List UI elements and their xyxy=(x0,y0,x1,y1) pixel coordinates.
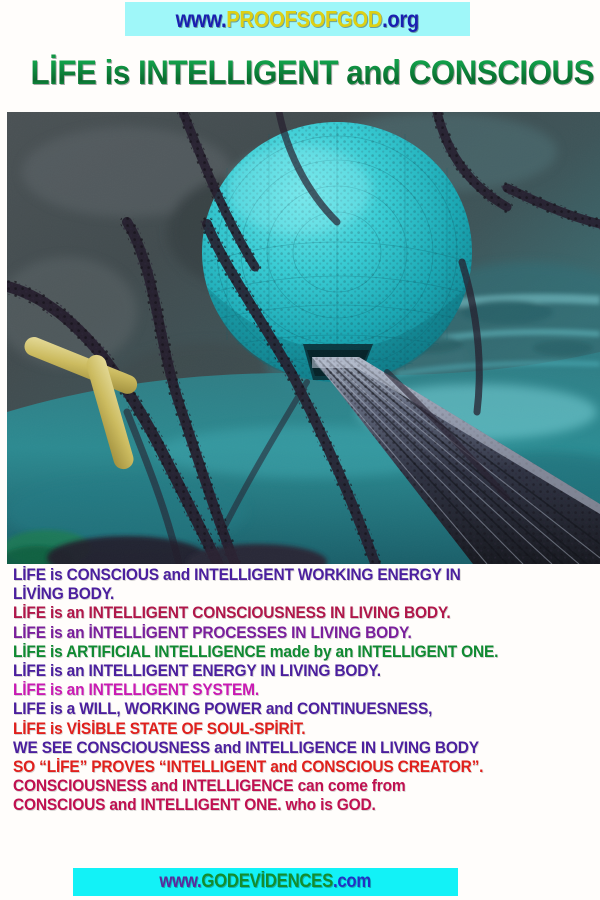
footer-url-banner[interactable]: www.GODEVİDENCES.com xyxy=(73,868,458,896)
url-prefix: www. xyxy=(176,6,227,32)
godevidences-url-text: www.GODEVİDENCES.com xyxy=(160,871,372,893)
statement-line: CONSCIOUS and INTELLIGENT ONE. who is GO… xyxy=(13,796,565,815)
page-title: LİFE is INTELLIGENT and CONSCIOUS ENERGY xyxy=(0,44,600,104)
statement-line: LİFE is CONSCIOUS and INTELLIGENT WORKIN… xyxy=(13,566,565,585)
statement-line: LİFE is an İNTELLİGENT PROCESSES IN LIVI… xyxy=(13,624,565,643)
footer-url-tld: .com xyxy=(333,871,371,892)
statement-line: CONSCIOUSNESS and INTELLIGENCE can come … xyxy=(13,777,565,796)
statement-line: LİFE is an INTELLIGENT ENERGY IN LIVING … xyxy=(13,662,565,681)
statement-line: LİFE is ARTIFICIAL INTELLIGENCE made by … xyxy=(13,643,565,662)
statement-line: LİFE is VİSİBLE STATE OF SOUL-SPİRİT. xyxy=(13,720,565,739)
footer-url-domain: GODEVİDENCES xyxy=(202,871,334,892)
url-tld: .org xyxy=(382,6,419,32)
cell-illustration xyxy=(7,112,600,564)
statements-block: LİFE is CONSCIOUS and INTELLIGENT WORKIN… xyxy=(13,566,600,816)
url-domain: PROOFSOFGOD xyxy=(227,6,383,32)
statement-line: LİFE is an INTELLIGENT SYSTEM. xyxy=(13,681,565,700)
proofsofgod-url-text: www.PROOFSOFGOD.org xyxy=(176,6,419,33)
statement-line: LIFE is a WILL, WORKING POWER and CONTIN… xyxy=(13,700,565,719)
page-title-text: LİFE is INTELLIGENT and CONSCIOUS ENERGY xyxy=(30,44,600,102)
footer-url-prefix: www. xyxy=(160,871,202,892)
cell-illustration-graphic xyxy=(7,112,600,564)
statement-line: SO “LİFE” PROVES “INTELLIGENT and CONSCI… xyxy=(13,758,565,777)
top-url-banner[interactable]: www.PROOFSOFGOD.org xyxy=(125,2,470,36)
statement-line: WE SEE CONSCIOUSNESS and INTELLIGENCE IN… xyxy=(13,739,565,758)
statement-line: LİFE is an INTELLIGENT CONSCIOUSNESS IN … xyxy=(13,604,565,623)
statement-line: LİVİNG BODY. xyxy=(13,585,565,604)
